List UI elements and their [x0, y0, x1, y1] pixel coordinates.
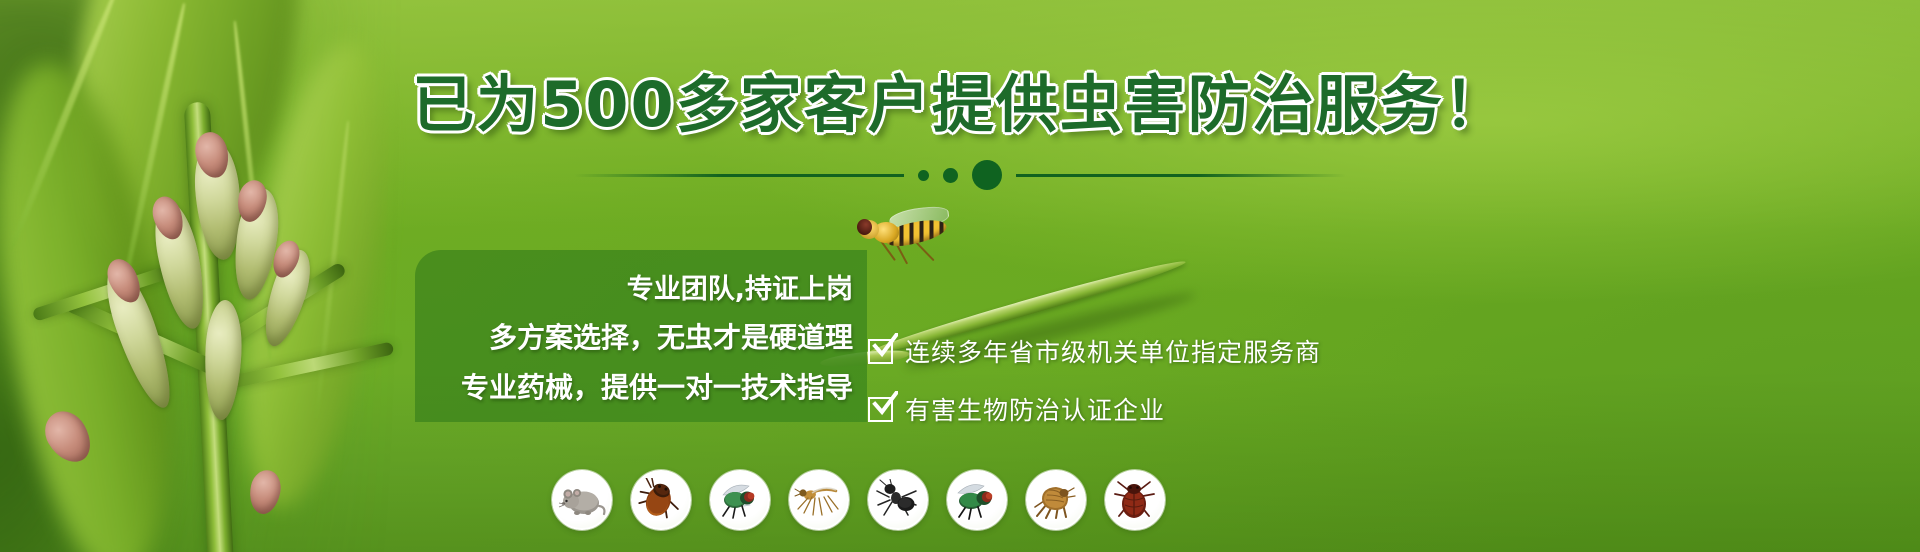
checklist-item: 连续多年省市级机关单位指定服务商: [868, 333, 1321, 369]
pest-control-hero-banner: 已为500多家客户提供虫害防治服务！ 专业团队,持证上岗 多方案选择，无虫才是硬…: [0, 0, 1920, 552]
decorative-divider: [0, 160, 1920, 190]
housefly-icon[interactable]: 苍蝇: [710, 470, 770, 530]
hoverfly: [855, 212, 955, 258]
ant-icon[interactable]: 蚂蚁: [868, 470, 928, 530]
pest-icon-row: 鼠 蟑螂: [552, 470, 1165, 530]
mouse-icon[interactable]: 鼠: [552, 470, 612, 530]
credential-checklist: 连续多年省市级机关单位指定服务商 有害生物防治认证企业: [868, 333, 1321, 427]
checkbox-checked-icon: [868, 339, 893, 364]
feature-line-3: 专业药械，提供一对一技术指导: [461, 366, 853, 406]
flea-icon[interactable]: 跳蚤: [1026, 470, 1086, 530]
feature-line-1: 专业团队,持证上岗: [627, 267, 853, 306]
divider-line-left: [574, 174, 904, 177]
banner-headline-text: 已为500多家客户提供虫害防治服务！: [412, 68, 1507, 141]
checklist-item-label: 有害生物防治认证企业: [905, 391, 1165, 427]
divider-dot-small: [918, 170, 929, 181]
feature-highlight-box: 专业团队,持证上岗 多方案选择，无虫才是硬道理 专业药械，提供一对一技术指导: [415, 250, 867, 422]
banner-headline: 已为500多家客户提供虫害防治服务！: [0, 74, 1920, 136]
greenbottle-fly-icon[interactable]: 绿头蝇: [947, 470, 1007, 530]
divider-line-right: [1016, 174, 1346, 177]
cockroach-icon[interactable]: 蟑螂: [631, 470, 691, 530]
checklist-item: 有害生物防治认证企业: [868, 391, 1321, 427]
hoverfly-eye: [857, 219, 872, 235]
divider-dot-medium: [943, 168, 958, 183]
mosquito-icon[interactable]: 蚊: [789, 470, 849, 530]
feature-line-2: 多方案选择，无虫才是硬道理: [489, 316, 853, 356]
bedbug-icon[interactable]: 臭虫: [1105, 470, 1165, 530]
checkbox-checked-icon: [868, 397, 893, 422]
divider-dot-large: [972, 160, 1002, 190]
checklist-item-label: 连续多年省市级机关单位指定服务商: [905, 333, 1321, 369]
